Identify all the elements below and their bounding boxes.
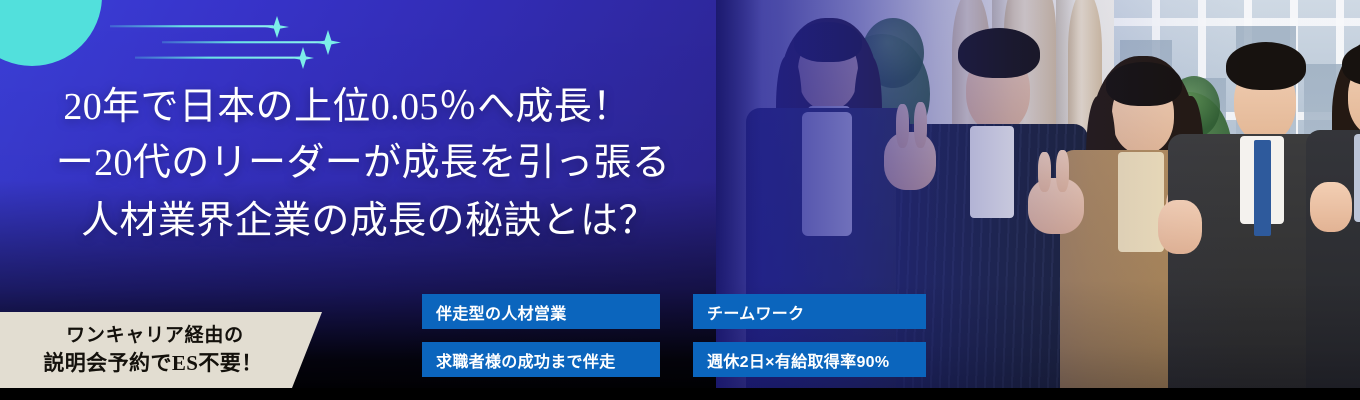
headline-line-1: 20年で日本の上位0.05％へ成長！ <box>0 80 716 134</box>
no-es-required-ribbon: ワンキャリア経由の 説明会予約でES不要！ <box>0 312 322 388</box>
ribbon-line-1: ワンキャリア経由の <box>66 323 256 349</box>
badge-holidays: 週休2日×有給取得率90% <box>693 342 926 377</box>
badge-sales-style: 伴走型の人材営業 <box>422 294 660 329</box>
badge-teamwork: チームワーク <box>693 294 926 329</box>
sparkle-lines-decor <box>0 0 400 90</box>
ribbon-line-2: 説明会予約でES不要！ <box>43 349 278 377</box>
headline-line-3: 人材業界企業の成長の秘訣とは？ <box>22 192 716 250</box>
headline-block: 20年で日本の上位0.05％へ成長！ ー20代のリーダーが成長を引っ張る 人材業… <box>0 80 716 250</box>
badge-candidate-support: 求職者様の成功まで伴走 <box>422 342 660 377</box>
headline-line-2: ー20代のリーダーが成長を引っ張る <box>10 134 716 192</box>
team-photo <box>716 0 1360 400</box>
recruiting-banner: 20年で日本の上位0.05％へ成長！ ー20代のリーダーが成長を引っ張る 人材業… <box>0 0 1360 400</box>
bottom-band <box>0 388 1360 400</box>
